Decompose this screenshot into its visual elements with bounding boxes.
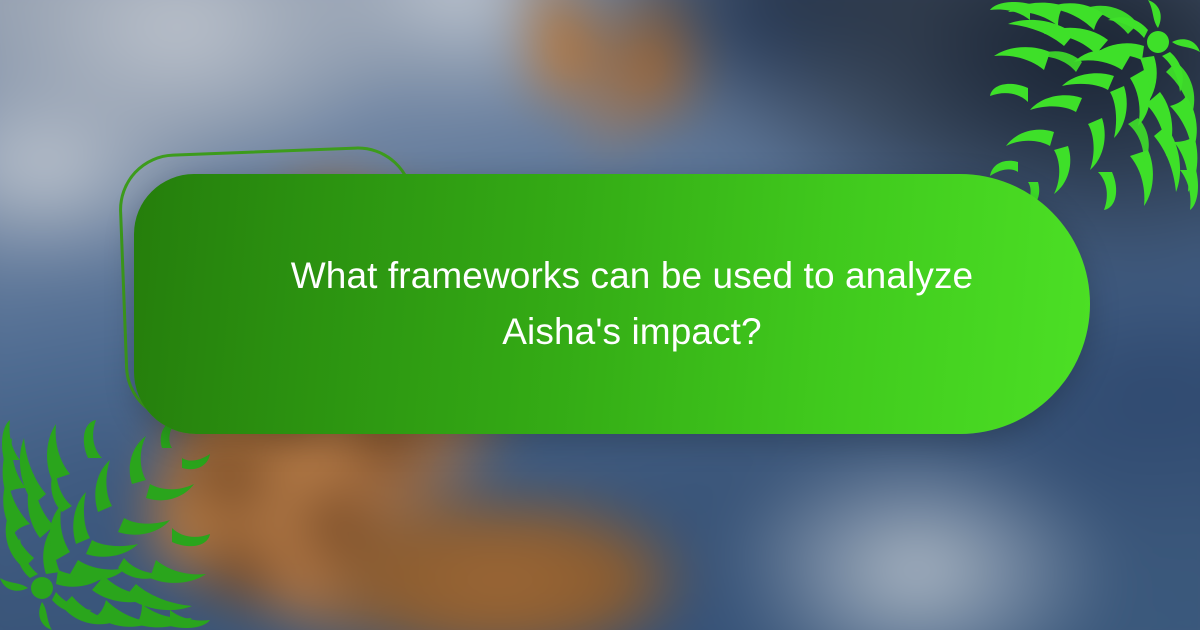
question-text: What frameworks can be used to analyze A… [242,248,982,360]
poster-canvas: What frameworks can be used to analyze A… [0,0,1200,630]
question-card: What frameworks can be used to analyze A… [134,174,1090,434]
